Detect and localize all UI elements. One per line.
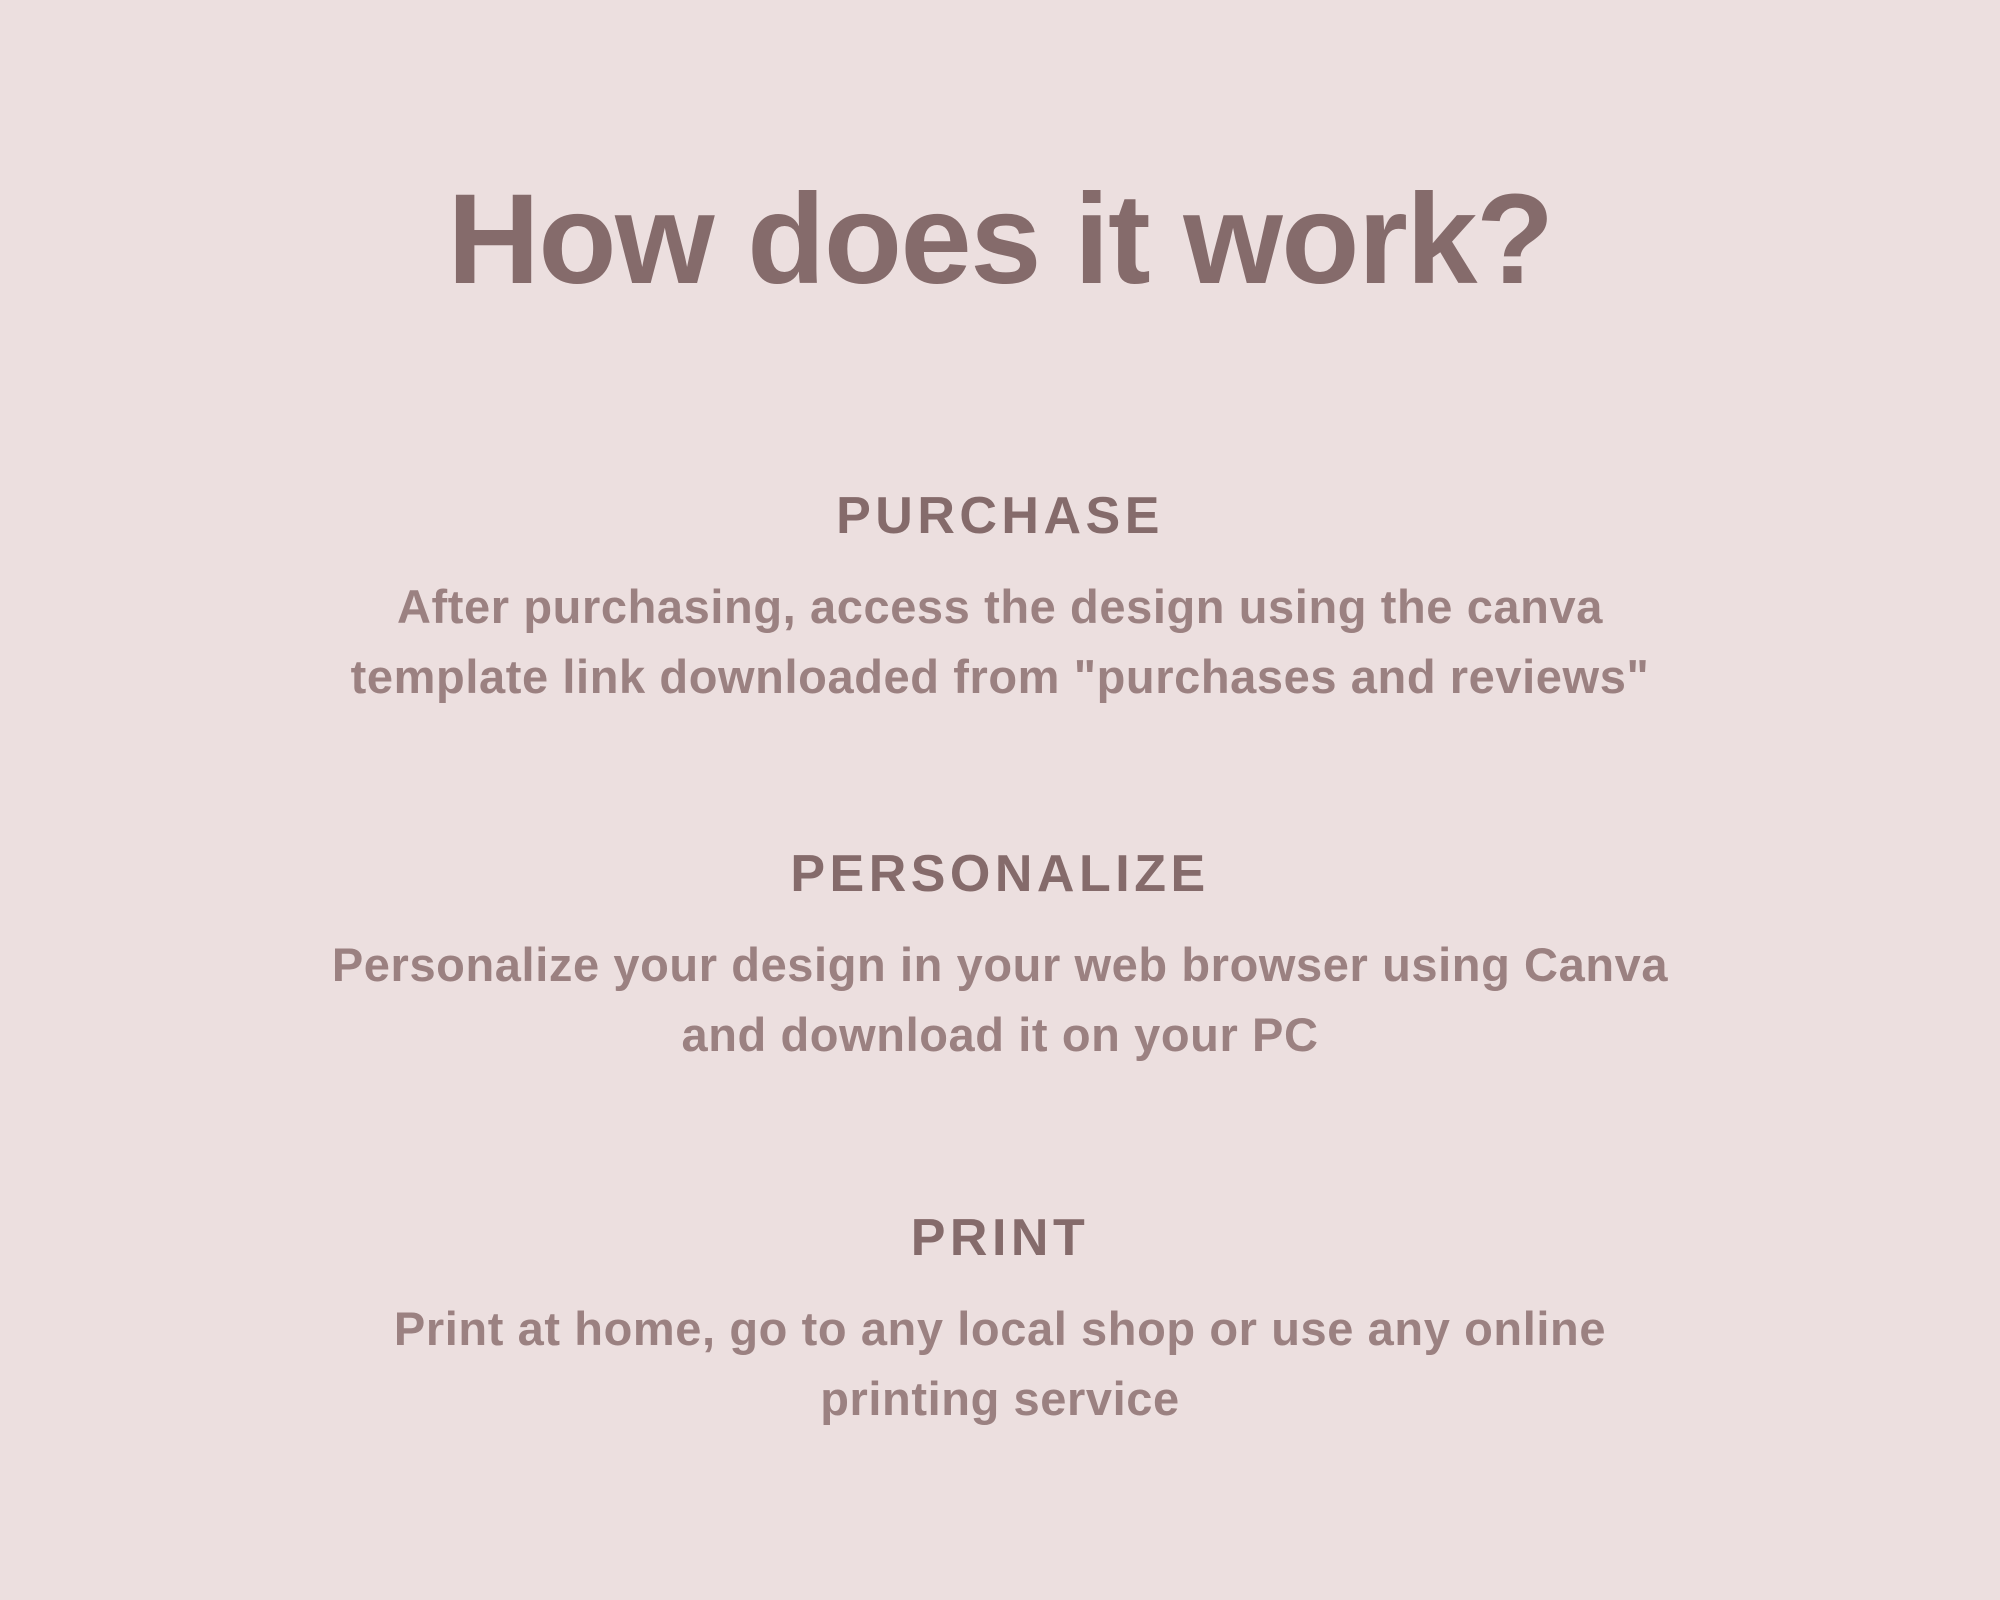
step-heading-print: PRINT — [0, 1212, 2000, 1264]
step-heading-personalize: PERSONALIZE — [0, 848, 2000, 900]
step-section-purchase: PURCHASE After purchasing, access the de… — [0, 490, 2000, 712]
step-body-line: Print at home, go to any local shop or u… — [0, 1294, 2000, 1364]
step-body-line: printing service — [0, 1364, 2000, 1434]
page-title: How does it work? — [0, 168, 2000, 311]
step-section-personalize: PERSONALIZE Personalize your design in y… — [0, 848, 2000, 1070]
step-body-line: After purchasing, access the design usin… — [0, 572, 2000, 642]
step-heading-purchase: PURCHASE — [0, 490, 2000, 542]
step-body-line: template link downloaded from "purchases… — [0, 642, 2000, 712]
poster-canvas: How does it work? PURCHASE After purchas… — [0, 0, 2000, 1600]
step-body-print: Print at home, go to any local shop or u… — [0, 1294, 2000, 1434]
step-body-line: Personalize your design in your web brow… — [0, 930, 2000, 1000]
step-section-print: PRINT Print at home, go to any local sho… — [0, 1212, 2000, 1434]
step-body-line: and download it on your PC — [0, 1000, 2000, 1070]
step-body-purchase: After purchasing, access the design usin… — [0, 572, 2000, 712]
step-body-personalize: Personalize your design in your web brow… — [0, 930, 2000, 1070]
